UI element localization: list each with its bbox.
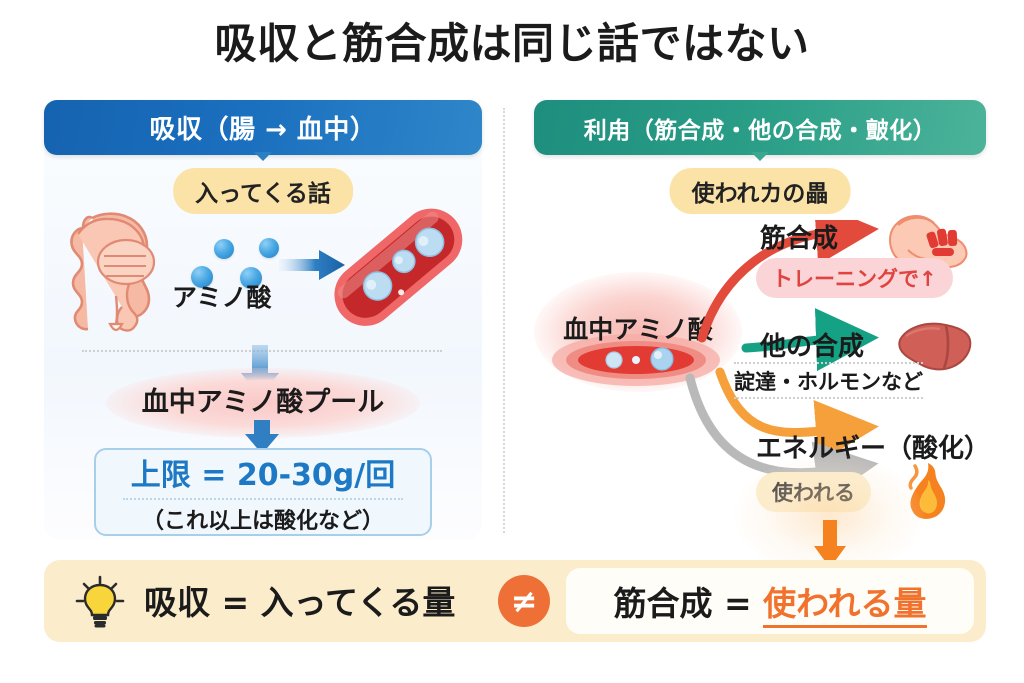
title-container: 吸収と筋合成は同じ話ではない	[0, 18, 1024, 71]
branch-label-muscle: 筋合成	[760, 218, 838, 255]
banner-right-statement: 筋合成 = 使われる量	[614, 577, 927, 625]
banner-left-statement: 吸収 = 入ってくる量	[144, 576, 455, 624]
banner-right-prefix: 筋合成 =	[614, 584, 764, 623]
absorption-header: 吸収（腸 → 血中）	[44, 100, 482, 155]
utilization-panel: 利甪（筋合成・他の合成・皽化） 使われカの畾 血中アミノ酸	[534, 100, 986, 540]
utilization-badge-label: 使われカの畾	[692, 181, 829, 207]
amino-dot	[214, 239, 234, 259]
absorption-panel: 吸収（腸 → 血中） 入ってくる話	[44, 100, 482, 540]
branch-sub-muscle: トレーニングで↑	[756, 258, 953, 298]
absorption-header-label: 吸収（腸 → 血中）	[150, 109, 377, 146]
not-equal-badge: ≠	[498, 575, 550, 627]
lightbulb-icon	[72, 574, 128, 630]
banner-right-box: 筋合成 = 使われる量	[566, 568, 974, 634]
not-equal-symbol: ≠	[511, 582, 538, 620]
amino-pool-label: 血中アミノ酸プール	[44, 380, 482, 419]
branch-sub-muscle-label: トレーニングで↑	[772, 267, 937, 291]
amino-acid-label: アミノ酸	[172, 278, 272, 314]
infographic-root: 吸収と筋合成は同じ話ではない 吸収（腸 → 血中） 入ってくる話	[0, 0, 1024, 683]
title-text: 吸収と筋合成は同じ話ではない	[214, 19, 809, 68]
blood-vessel-icon	[319, 198, 479, 338]
banner-left-equals: =	[210, 583, 261, 622]
intestine-icon	[64, 204, 186, 339]
banner-right-highlight: 使われる量	[763, 577, 926, 625]
branch-label-other: 他の合成	[760, 326, 864, 363]
branch-sub-other: 諚達・ホルモンなど	[734, 362, 923, 399]
panel-divider	[503, 108, 505, 533]
absorption-badge-label: 入ってくる話	[195, 181, 331, 207]
utilization-header-label: 利甪（筋合成・他の合成・皽化）	[584, 111, 937, 145]
banner-left-suffix: 入ってくる量	[261, 576, 456, 624]
limit-divider	[123, 498, 403, 500]
banner-left-prefix: 吸収	[144, 576, 210, 624]
absorption-header-notch	[254, 152, 272, 161]
amino-dot	[259, 238, 279, 258]
upper-limit-note: （これ以上は酸化など）	[142, 503, 384, 535]
utilization-header-notch	[751, 152, 769, 161]
utilization-badge: 使われカの畾	[670, 168, 851, 214]
utilization-header: 利甪（筋合成・他の合成・皽化）	[534, 100, 986, 155]
upper-limit-box: 上限 = 20-30g/回 （これ以上は酸化など）	[94, 448, 432, 536]
upper-limit-value: 上限 = 20-30g/回	[131, 450, 395, 494]
page-title: 吸収と筋合成は同じ話ではない	[208, 18, 815, 71]
